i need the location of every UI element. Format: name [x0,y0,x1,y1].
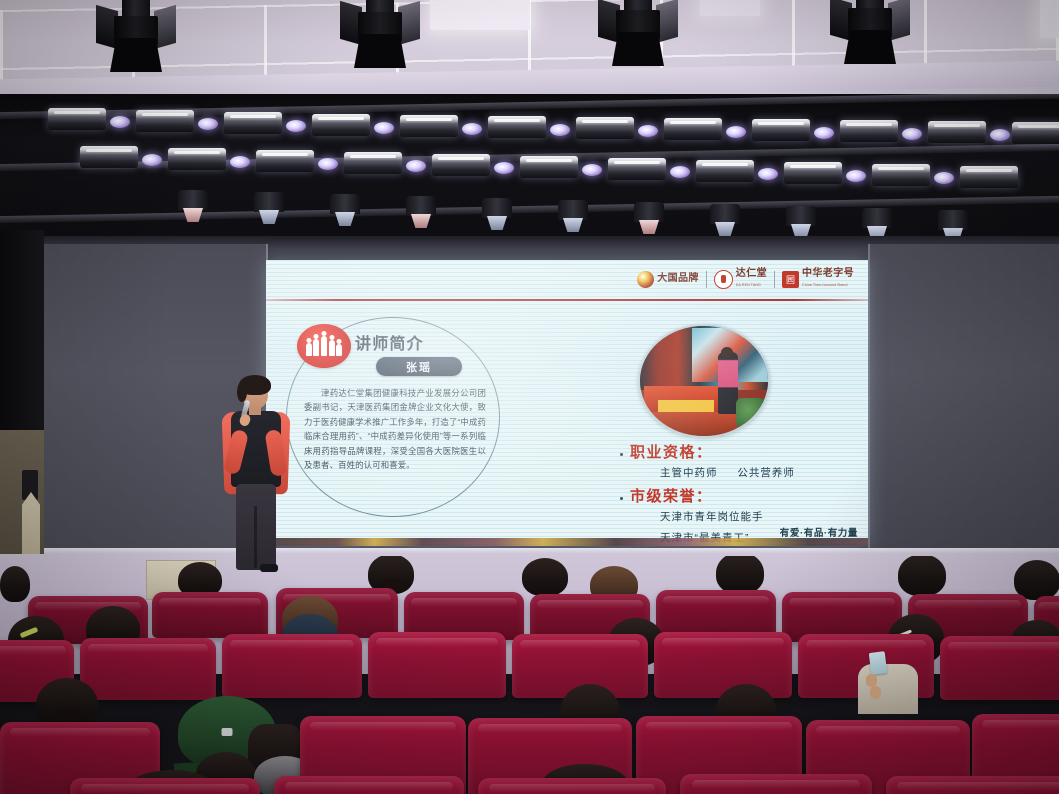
overhead-lighting-truss [0,94,1059,244]
logo-label-3: 中华老字号 [802,269,854,279]
logo-label-2: 达仁堂 [736,269,767,279]
credential-heading-0: 职业资格： [630,442,713,463]
audience-seat [478,778,666,794]
right-wall-panel [868,244,1059,562]
seal-icon [637,271,654,288]
audience-hand [870,686,881,699]
audience-seat [274,776,464,794]
audience-head [522,558,568,596]
audience-seat [152,592,268,638]
floor-speaker-stand [22,492,40,562]
cap-logo-icon [222,728,233,736]
logo-sub-3: China Time-honored Brand [802,283,848,287]
ceiling-light-panel [430,0,530,30]
screenshot-scene: 大国品牌 达仁堂 DA REN TANG 囻 中华老字号 China Time-… [0,0,1059,794]
ceiling-light-panel [700,0,760,16]
logo-label-3-wrap: 中华老字号 China Time-honored Brand [802,269,854,289]
audience-seat [680,774,872,794]
audience-seat [80,638,216,700]
logo-label-1: 大国品牌 [657,274,699,284]
audience-seat [940,636,1059,700]
slide-title: 讲师简介 [355,330,424,354]
credential-heading-1: 市级荣誉： [630,486,713,507]
led-presentation-screen[interactable]: 大国品牌 达仁堂 DA REN TANG 囻 中华老字号 China Time-… [266,260,868,546]
ceiling-light-panel [1040,0,1059,38]
credential-item-0-0: 主管中药师 [660,467,718,479]
logo-label-2-wrap: 达仁堂 DA REN TANG [736,269,767,289]
logo-guopinpai: 大国品牌 [637,271,699,288]
audience-seat [886,776,1059,794]
seated-audience [0,556,1059,794]
speaker-name: 张瑶 [406,359,432,375]
speaker-photo-oval [638,324,770,438]
audience-seat [654,632,792,698]
slide-tagline: 有爱·有品·有力量 [780,525,858,539]
screen-bottom-border [266,538,868,546]
ceiling [0,0,1059,96]
slide-header-rule [266,299,868,301]
audience-head [898,556,946,596]
logo-divider [774,271,775,288]
logo-darentang: 达仁堂 DA REN TANG [714,269,767,289]
bullet-dot-icon [620,453,623,456]
audience-seat [70,778,260,794]
laozihao-mark-icon: 囻 [782,271,799,288]
audience-seat [368,632,506,698]
credential-section: 市级荣誉： [620,486,858,507]
bullet-dot-icon [620,497,623,500]
logo-divider [706,271,707,288]
brand-logo-row: 大国品牌 达仁堂 DA REN TANG 囻 中华老字号 China Time-… [637,269,854,289]
audience-shoulders [858,664,918,714]
audience-head [0,566,30,602]
logo-sub-2: DA REN TANG [736,283,761,287]
audience-seat [222,634,362,698]
people-group-icon [297,324,351,368]
handout-paper [869,651,888,675]
audience-head [716,556,764,594]
credential-item-1-0: 天津市青年岗位能手 [660,509,858,524]
credential-section: 职业资格： [620,442,858,463]
presenter-hair-side [237,382,247,402]
speaker-bio-text: 津药达仁堂集团健康科技产业发展分公司团委副书记，天津医药集团金牌企业文化大使，致… [304,386,486,473]
presenter-speaker [206,378,304,574]
people-figures [306,336,342,356]
speaker-name-badge: 张瑶 [376,357,462,376]
credential-items-0: 主管中药师 公共营养师 [660,465,858,480]
logo-laozihao: 囻 中华老字号 China Time-honored Brand [782,269,854,289]
credential-item-0-1: 公共营养师 [737,467,795,479]
darentang-mark-icon [714,270,733,289]
